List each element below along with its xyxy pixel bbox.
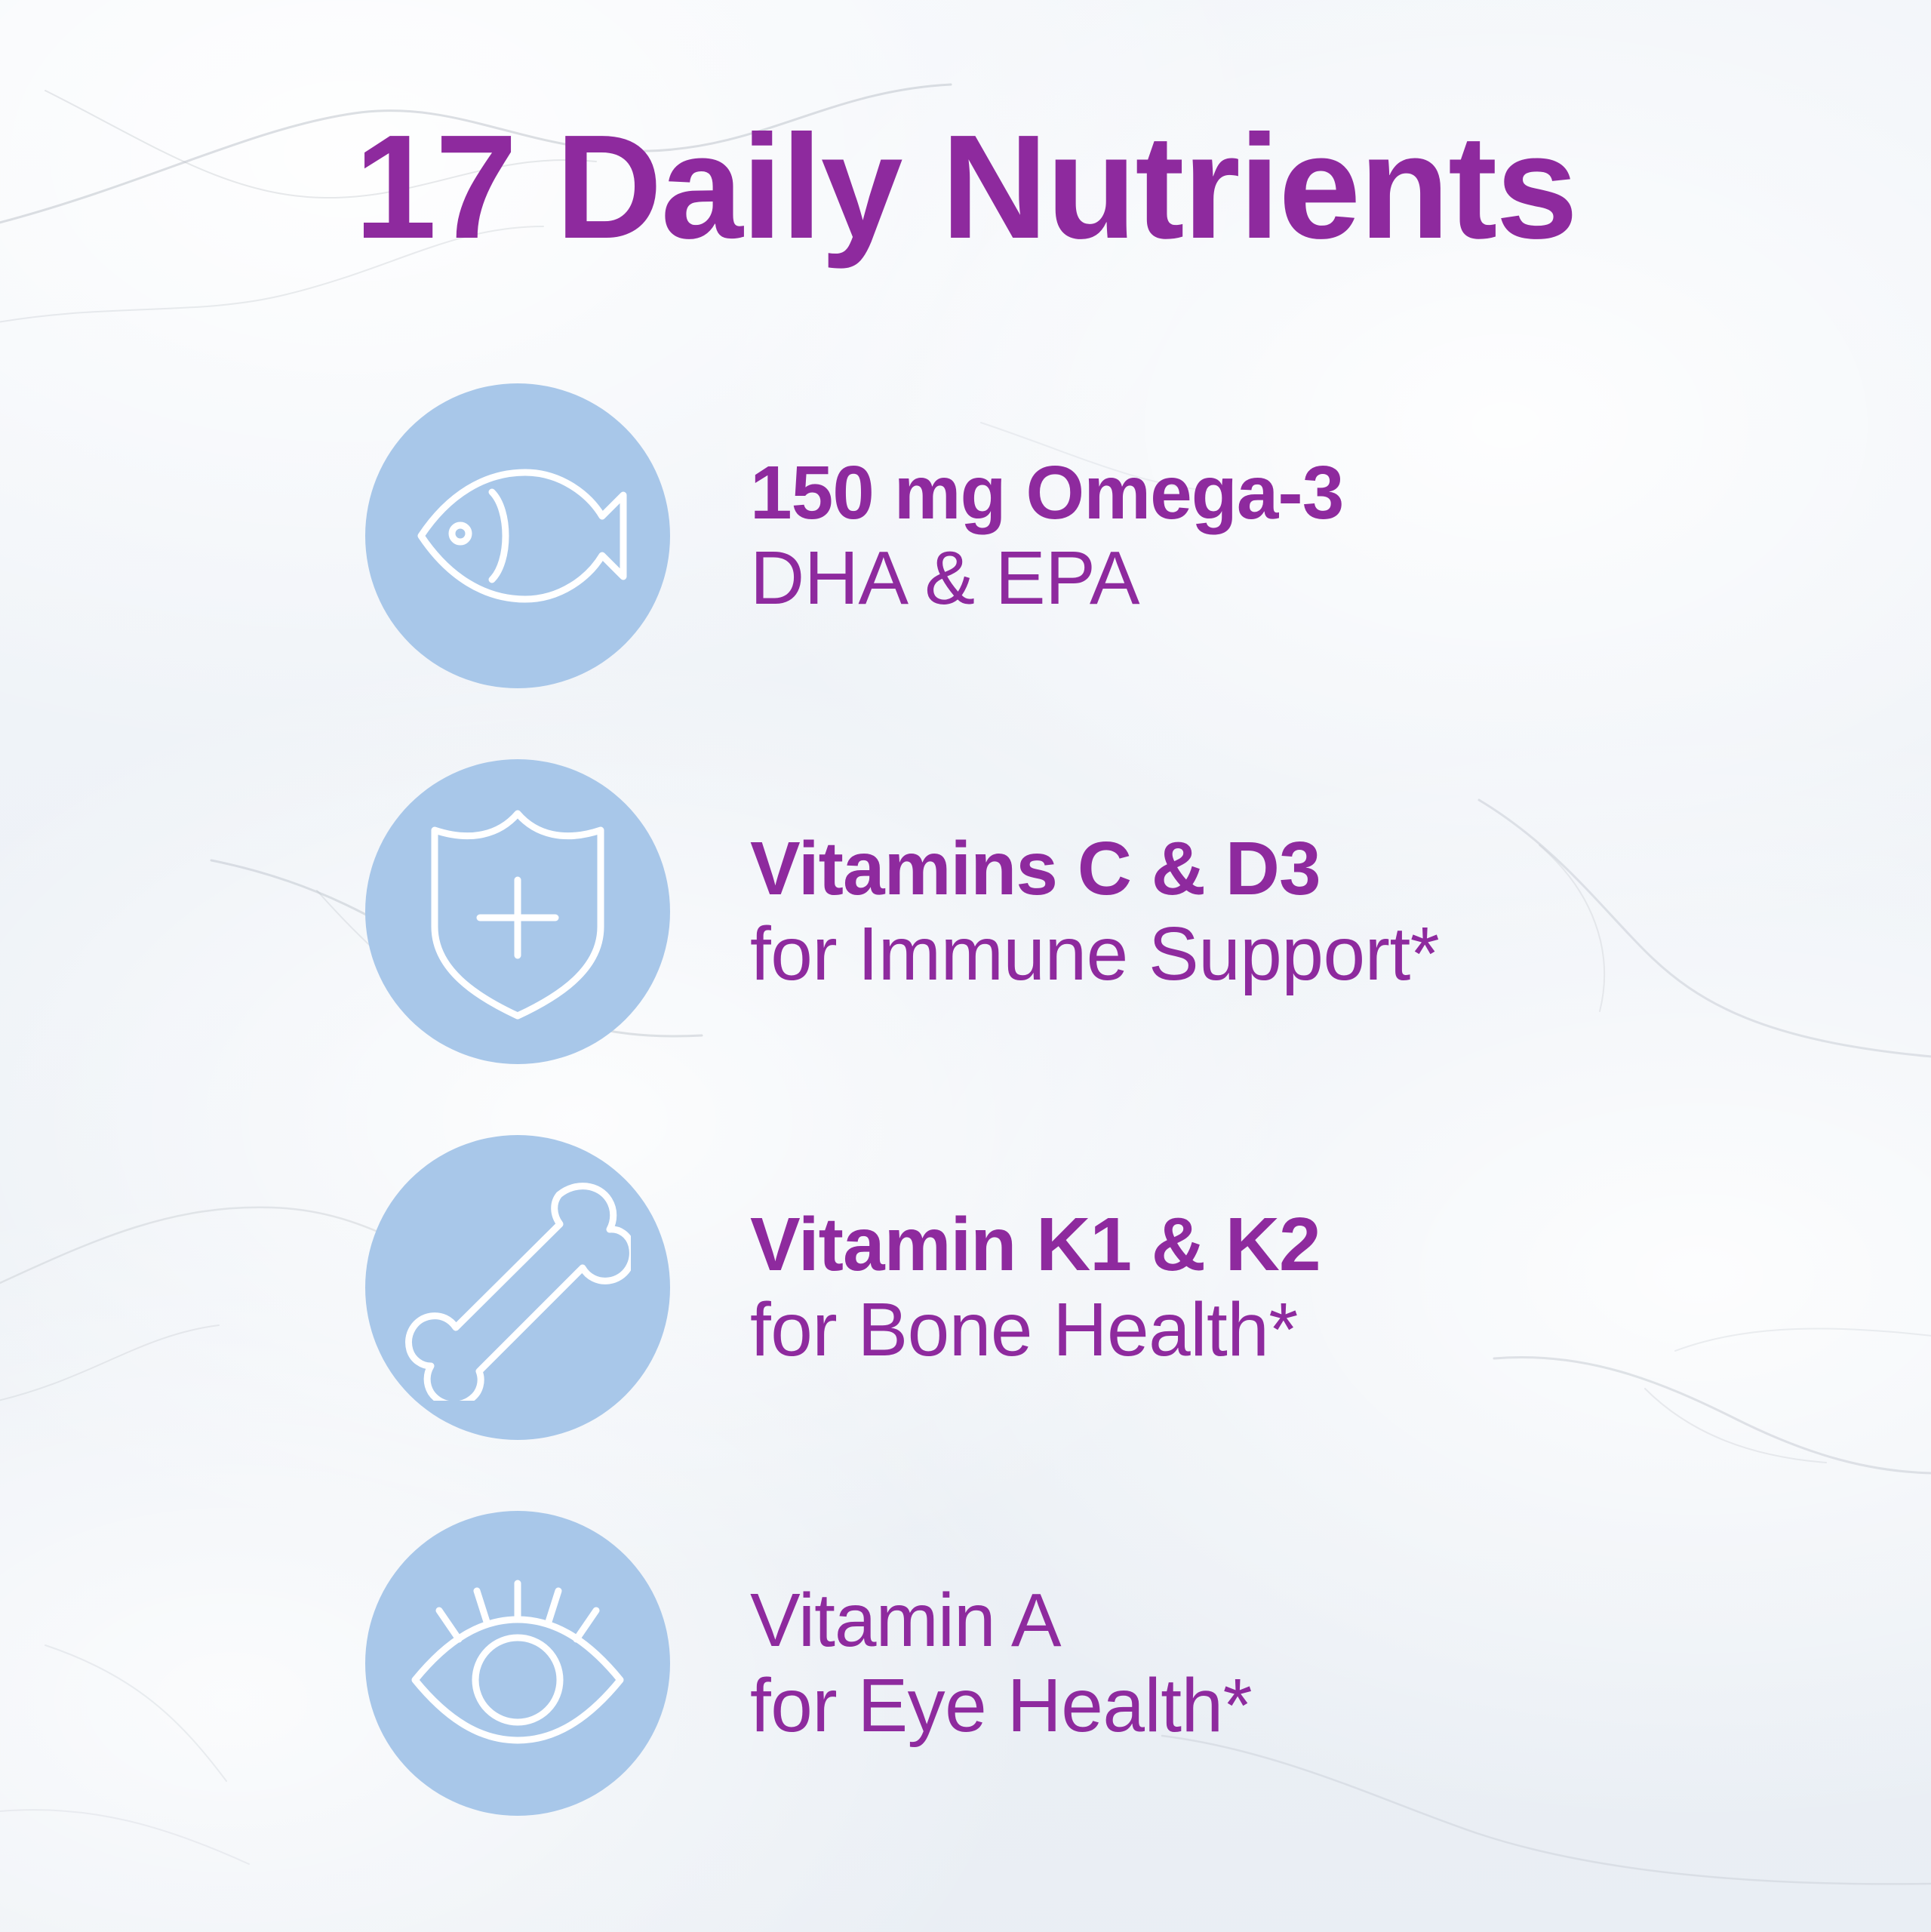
nutrient-text: Vitamins C & D3 for Immune Support* <box>750 826 1439 997</box>
nutrient-text: 150 mg Omega-3 DHA & EPA <box>750 451 1343 621</box>
icon-badge <box>365 383 670 688</box>
bone-icon <box>404 1174 631 1401</box>
nutrient-subline: for Immune Support* <box>750 912 1439 997</box>
nutrient-headline: Vitamin K1 & K2 <box>750 1202 1321 1287</box>
nutrient-headline: 150 mg Omega-3 <box>750 451 1343 536</box>
fish-icon <box>404 423 631 649</box>
nutrient-headline: Vitamins C & D3 <box>750 826 1439 912</box>
nutrient-row-vitamin-k: Vitamin K1 & K2 for Bone Health* <box>365 1135 1799 1440</box>
nutrient-text: Vitamin A for Eye Health* <box>750 1578 1252 1749</box>
icon-badge <box>365 759 670 1064</box>
page-title: 17 Daily Nutrients <box>0 113 1931 261</box>
eye-icon <box>404 1550 631 1777</box>
shield-plus-icon <box>404 798 631 1025</box>
nutrient-subline: for Eye Health* <box>750 1663 1252 1749</box>
nutrient-subline: DHA & EPA <box>750 536 1343 621</box>
nutrient-subline: for Bone Health* <box>750 1287 1321 1373</box>
nutrient-row-vitamin-a: Vitamin A for Eye Health* <box>365 1511 1799 1816</box>
nutrient-text: Vitamin K1 & K2 for Bone Health* <box>750 1202 1321 1373</box>
nutrient-headline: Vitamin A <box>750 1578 1252 1663</box>
icon-badge <box>365 1135 670 1440</box>
nutrient-row-omega3: 150 mg Omega-3 DHA & EPA <box>365 383 1799 688</box>
nutrient-infographic: 17 Daily Nutrients 150 mg Omega-3 DHA & … <box>0 0 1931 1932</box>
nutrient-row-vitamins-c-d3: Vitamins C & D3 for Immune Support* <box>365 759 1799 1064</box>
icon-badge <box>365 1511 670 1816</box>
